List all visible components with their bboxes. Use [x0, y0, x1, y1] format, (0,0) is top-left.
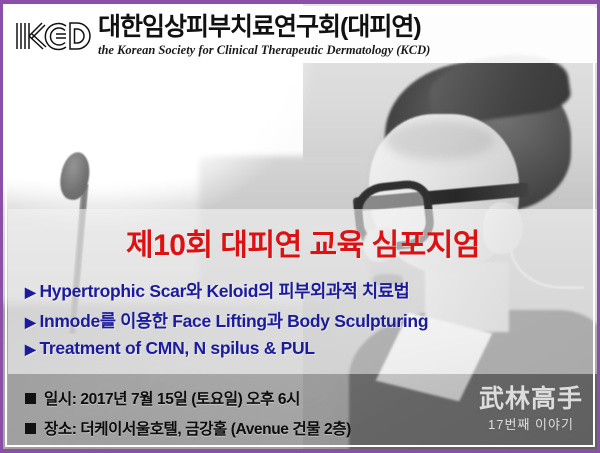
- watermark-title: 武林高手: [479, 387, 583, 412]
- event-venue-line: 장소: 더케이서울호텔, 금강홀 (Avenue 건물 2층): [25, 413, 351, 443]
- event-date-line: 일시: 2017년 7월 15일 (토요일) 오후 6시: [25, 383, 351, 413]
- page-title: 제10회 대피연 교육 심포지엄: [3, 220, 600, 264]
- list-item: ▶ Hypertrophic Scar와 Keloid의 피부외과적 치료법: [25, 278, 585, 308]
- org-name-korean: 대한임상피부치료연구회(대피연): [98, 15, 430, 40]
- list-item: ▶ Inmode를 이용한 Face Lifting과 Body Sculptu…: [25, 308, 585, 338]
- square-bullet-icon: [25, 423, 36, 434]
- session-label: Hypertrophic Scar와 Keloid의 피부외과적 치료법: [39, 278, 409, 303]
- list-item: ▶ Treatment of CMN, N spilus & PUL: [25, 338, 585, 368]
- triangle-right-icon: ▶: [25, 315, 35, 329]
- org-name-english: the Korean Society for Clinical Therapeu…: [98, 44, 430, 57]
- event-info: 일시: 2017년 7월 15일 (토요일) 오후 6시 장소: 더케이서울호텔…: [25, 383, 351, 443]
- symposium-poster: 대한임상피부치료연구회(대피연) the Korean Society for …: [0, 0, 600, 453]
- event-venue-label: 장소: 더케이서울호텔, 금강홀 (Avenue 건물 2층): [44, 417, 351, 439]
- session-label: Inmode를 이용한 Face Lifting과 Body Sculpturi…: [39, 308, 428, 333]
- watermark: 武林高手 17번째 이야기: [479, 387, 583, 431]
- session-label: Treatment of CMN, N spilus & PUL: [39, 338, 314, 359]
- organization-names: 대한임상피부치료연구회(대피연) the Korean Society for …: [98, 15, 430, 57]
- session-list: ▶ Hypertrophic Scar와 Keloid의 피부외과적 치료법 ▶…: [25, 278, 585, 368]
- kcd-logo-icon: [14, 19, 92, 53]
- event-date-label: 일시: 2017년 7월 15일 (토요일) 오후 6시: [44, 387, 300, 409]
- watermark-subtitle: 17번째 이야기: [479, 418, 583, 431]
- speaker-forehead-shadow: [385, 120, 495, 160]
- square-bullet-icon: [25, 393, 36, 404]
- poster-header: 대한임상피부치료연구회(대피연) the Korean Society for …: [6, 8, 600, 63]
- triangle-right-icon: ▶: [25, 285, 35, 299]
- triangle-right-icon: ▶: [25, 342, 35, 356]
